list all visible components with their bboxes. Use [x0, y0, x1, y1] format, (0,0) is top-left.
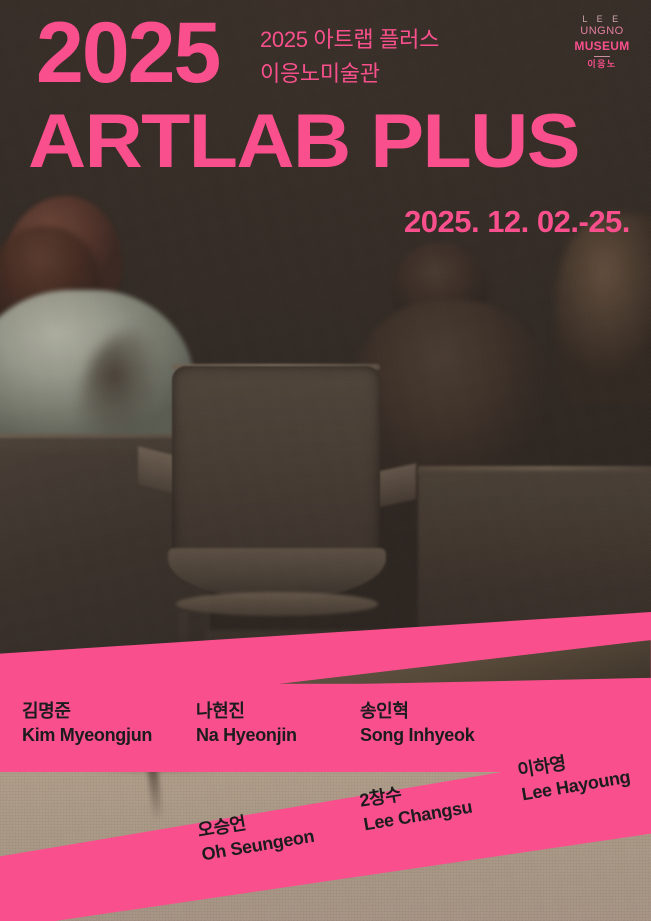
- photo-figure-far-right: [556, 214, 651, 404]
- artist-name-kr: 김명준: [22, 700, 152, 724]
- exhibition-dates: 2025. 12. 02.-25.: [404, 204, 630, 240]
- artist-name-en: Kim Myeongjun: [22, 724, 152, 748]
- logo-text-lee: L E E: [569, 14, 635, 25]
- subtitle-line-2: 이응노미술관: [260, 57, 439, 91]
- artist-name-kr: 송인혁: [360, 700, 474, 724]
- poster-title: ARTLAB PLUS: [28, 104, 579, 180]
- exhibition-poster: 2025 2025 아트랩 플러스 이응노미술관 ARTLAB PLUS 202…: [0, 0, 651, 921]
- subtitle-line-1: 2025 아트랩 플러스: [260, 23, 439, 57]
- artist-name: 나현진 Na Hyeonjin: [196, 700, 297, 748]
- photo-empty-chair-back: [172, 366, 380, 566]
- poster-year: 2025: [36, 10, 219, 96]
- artist-name: 송인혁 Song Inhyeok: [360, 700, 474, 748]
- artist-name-kr: 나현진: [196, 700, 297, 724]
- logo-text-ungno: UNGNO: [569, 25, 635, 39]
- logo-text-korean: 이응노: [569, 59, 635, 70]
- artist-name-en: Na Hyeonjin: [196, 724, 297, 748]
- poster-subtitle: 2025 아트랩 플러스 이응노미술관: [260, 23, 439, 91]
- artist-name-en: Song Inhyeok: [360, 724, 474, 748]
- artist-name: 김명준 Kim Myeongjun: [22, 700, 152, 748]
- photo-empty-chair-seat-edge: [176, 592, 378, 616]
- museum-logo: L E E UNGNO MUSEUM 이응노: [569, 14, 635, 70]
- logo-divider: [594, 56, 610, 57]
- logo-text-museum: MUSEUM: [569, 39, 635, 54]
